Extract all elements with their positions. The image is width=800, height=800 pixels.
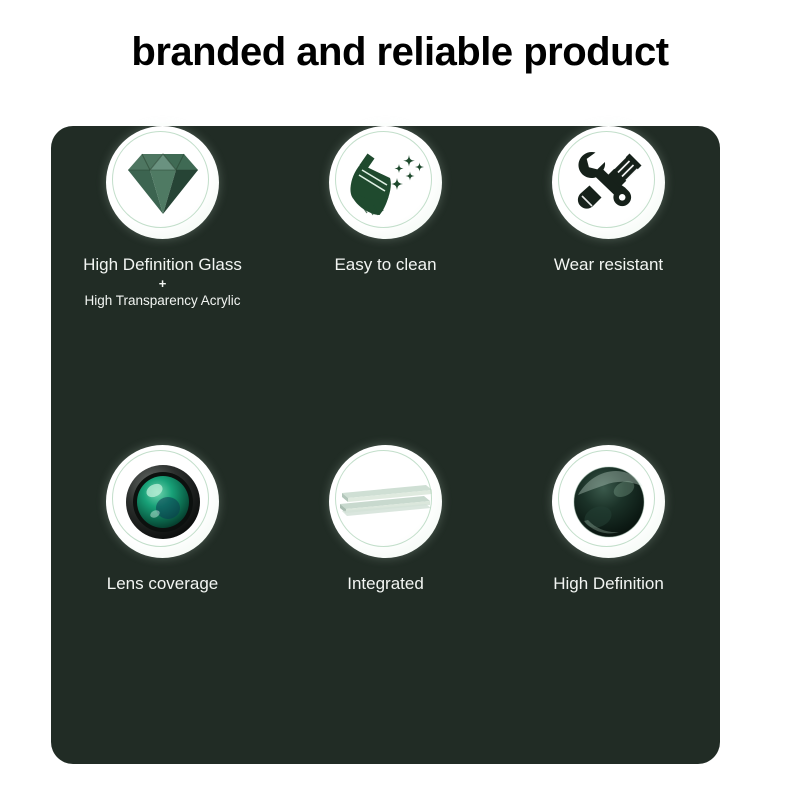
feature-label-line1: High Definition (553, 574, 664, 593)
page-title: branded and reliable product (0, 30, 800, 75)
feature-label-line3: High Transparency Acrylic (83, 293, 242, 309)
icon-circle (329, 445, 442, 558)
feature-label: Wear resistant (554, 255, 663, 275)
glass-layers-icon (338, 477, 434, 527)
feature-label: Easy to clean (334, 255, 436, 275)
feature-item-lens-coverage[interactable]: Lens coverage (51, 445, 274, 594)
feature-label-line1: Wear resistant (554, 255, 663, 274)
icon-circle (329, 126, 442, 239)
feature-item-wear-resistant[interactable]: Wear resistant (497, 126, 720, 275)
camera-lens-icon (125, 464, 201, 540)
broom-sparkle-icon (347, 147, 425, 219)
feature-label-line1: Integrated (347, 574, 424, 593)
feature-item-easy-to-clean[interactable]: Easy to clean (274, 126, 497, 275)
feature-grid: High Definition Glass + High Transparenc… (51, 126, 720, 764)
icon-circle (552, 445, 665, 558)
feature-label-line1: High Definition Glass (83, 255, 242, 274)
feature-item-high-definition-glass[interactable]: High Definition Glass + High Transparenc… (51, 126, 274, 309)
glossy-dome-icon (572, 465, 646, 539)
feature-item-high-definition[interactable]: High Definition (497, 445, 720, 594)
feature-label: High Definition Glass + High Transparenc… (83, 255, 242, 309)
feature-label-line1: Lens coverage (107, 574, 219, 593)
icon-circle (106, 445, 219, 558)
feature-label-plus: + (83, 276, 242, 292)
feature-panel: High Definition Glass + High Transparenc… (51, 126, 720, 764)
feature-label: High Definition (553, 574, 664, 594)
wrench-screwdriver-icon (573, 149, 645, 217)
diamond-icon (126, 150, 200, 216)
feature-label-line1: Easy to clean (334, 255, 436, 274)
icon-circle (552, 126, 665, 239)
icon-circle (106, 126, 219, 239)
feature-label: Integrated (347, 574, 424, 594)
feature-item-integrated[interactable]: Integrated (274, 445, 497, 594)
feature-label: Lens coverage (107, 574, 219, 594)
